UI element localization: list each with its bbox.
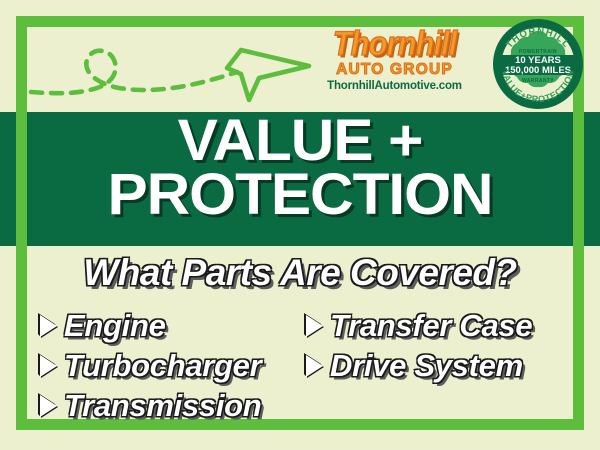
logo-subtitle: AUTO GROUP [317,62,472,78]
covered-parts-list: Engine Turbocharger Transmission Transfe… [40,306,564,426]
seal-miles-text: 150,000 MILES [505,65,571,76]
logo-wordmark: Thornhill [317,26,472,61]
list-item: Engine [40,306,298,346]
part-label: Transfer Case [330,308,532,344]
dashed-path-with-loop-and-arrow-icon [27,24,317,108]
main-headline: VALUE + PROTECTION [0,114,600,222]
triangle-bullet-icon [40,395,57,417]
logo-website-url: ThornhillAutomotive.com [317,81,472,93]
list-item: Transfer Case [306,306,564,346]
triangle-bullet-icon [40,355,57,377]
headline-line-1: VALUE + [0,114,600,168]
coverage-question: What Parts Are Covered? [0,252,600,294]
parts-column-left: Engine Turbocharger Transmission [40,306,298,426]
triangle-bullet-icon [306,315,323,337]
paper-plane-arrow-icon [227,50,309,100]
warranty-seal-badge: THORNHILL POWERTRAIN 10 YEARS 150,000 MI… [492,18,584,110]
list-item: Drive System [306,346,564,386]
list-item: Transmission [40,386,298,426]
header-row: Thornhill AUTO GROUP ThornhillAutomotive… [27,18,573,112]
part-label: Drive System [330,348,523,384]
thornhill-logo: Thornhill AUTO GROUP ThornhillAutomotive… [317,26,472,92]
part-label: Engine [64,308,166,344]
seal-warranty-label: WARRANTY [522,78,554,84]
headline-line-2: PROTECTION [0,168,600,222]
parts-column-right: Transfer Case Drive System [306,306,564,426]
triangle-bullet-icon [306,355,323,377]
advertisement-banner: Thornhill AUTO GROUP ThornhillAutomotive… [0,0,600,450]
part-label: Turbocharger [64,348,261,384]
list-item: Turbocharger [40,346,298,386]
triangle-bullet-icon [40,315,57,337]
part-label: Transmission [64,388,261,424]
